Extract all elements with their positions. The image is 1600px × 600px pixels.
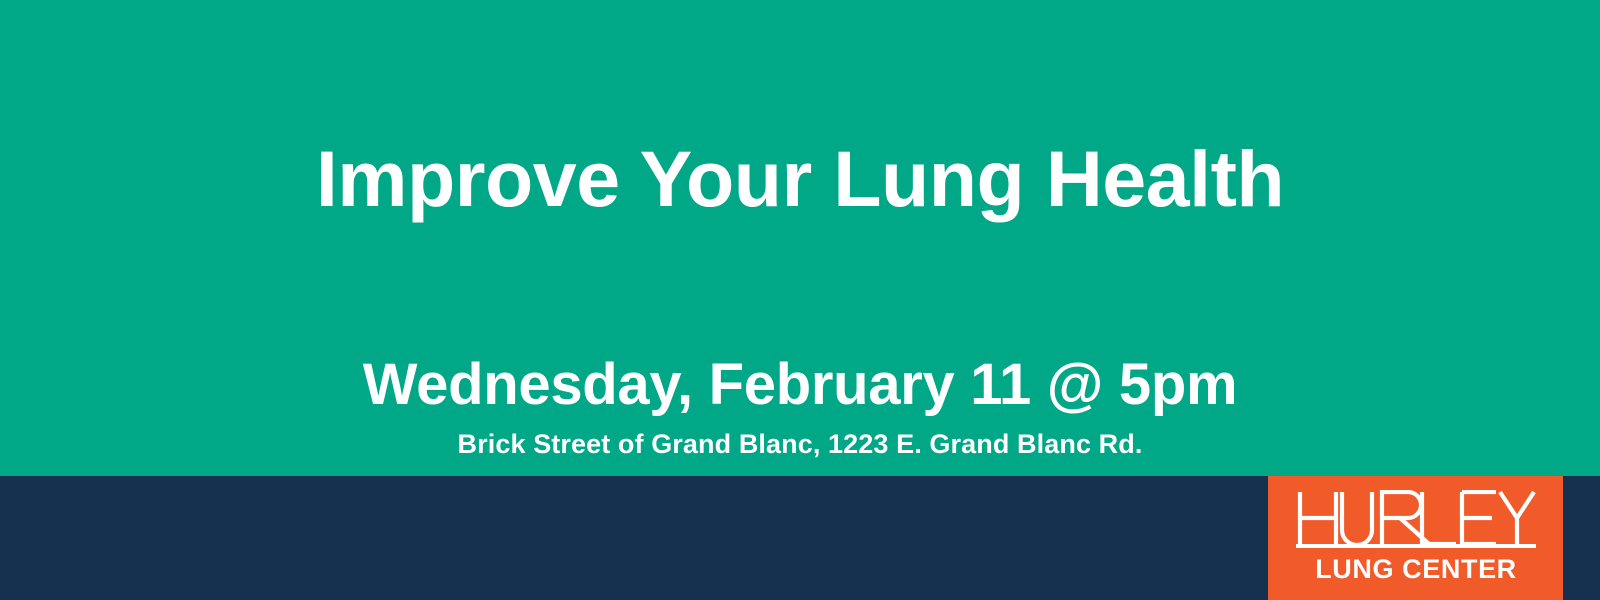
hurley-logo: LUNG CENTER (1268, 476, 1563, 600)
event-location-text: Brick Street of Grand Blanc, 1223 E. Gra… (0, 427, 1600, 461)
hero-section: Improve Your Lung Health Wednesday, Febr… (0, 0, 1600, 476)
event-date-text: Wednesday, February 11 @ 5pm (0, 352, 1600, 418)
logo-subtitle-label: LUNG CENTER (1296, 552, 1536, 586)
hurley-logo-block[interactable]: LUNG CENTER (1268, 476, 1563, 600)
hurley-wordmark-icon (1296, 490, 1536, 546)
logo-divider-rule (1296, 544, 1536, 548)
event-promo-banner: Improve Your Lung Health Wednesday, Febr… (0, 0, 1600, 600)
page-title: Improve Your Lung Health (0, 133, 1600, 225)
